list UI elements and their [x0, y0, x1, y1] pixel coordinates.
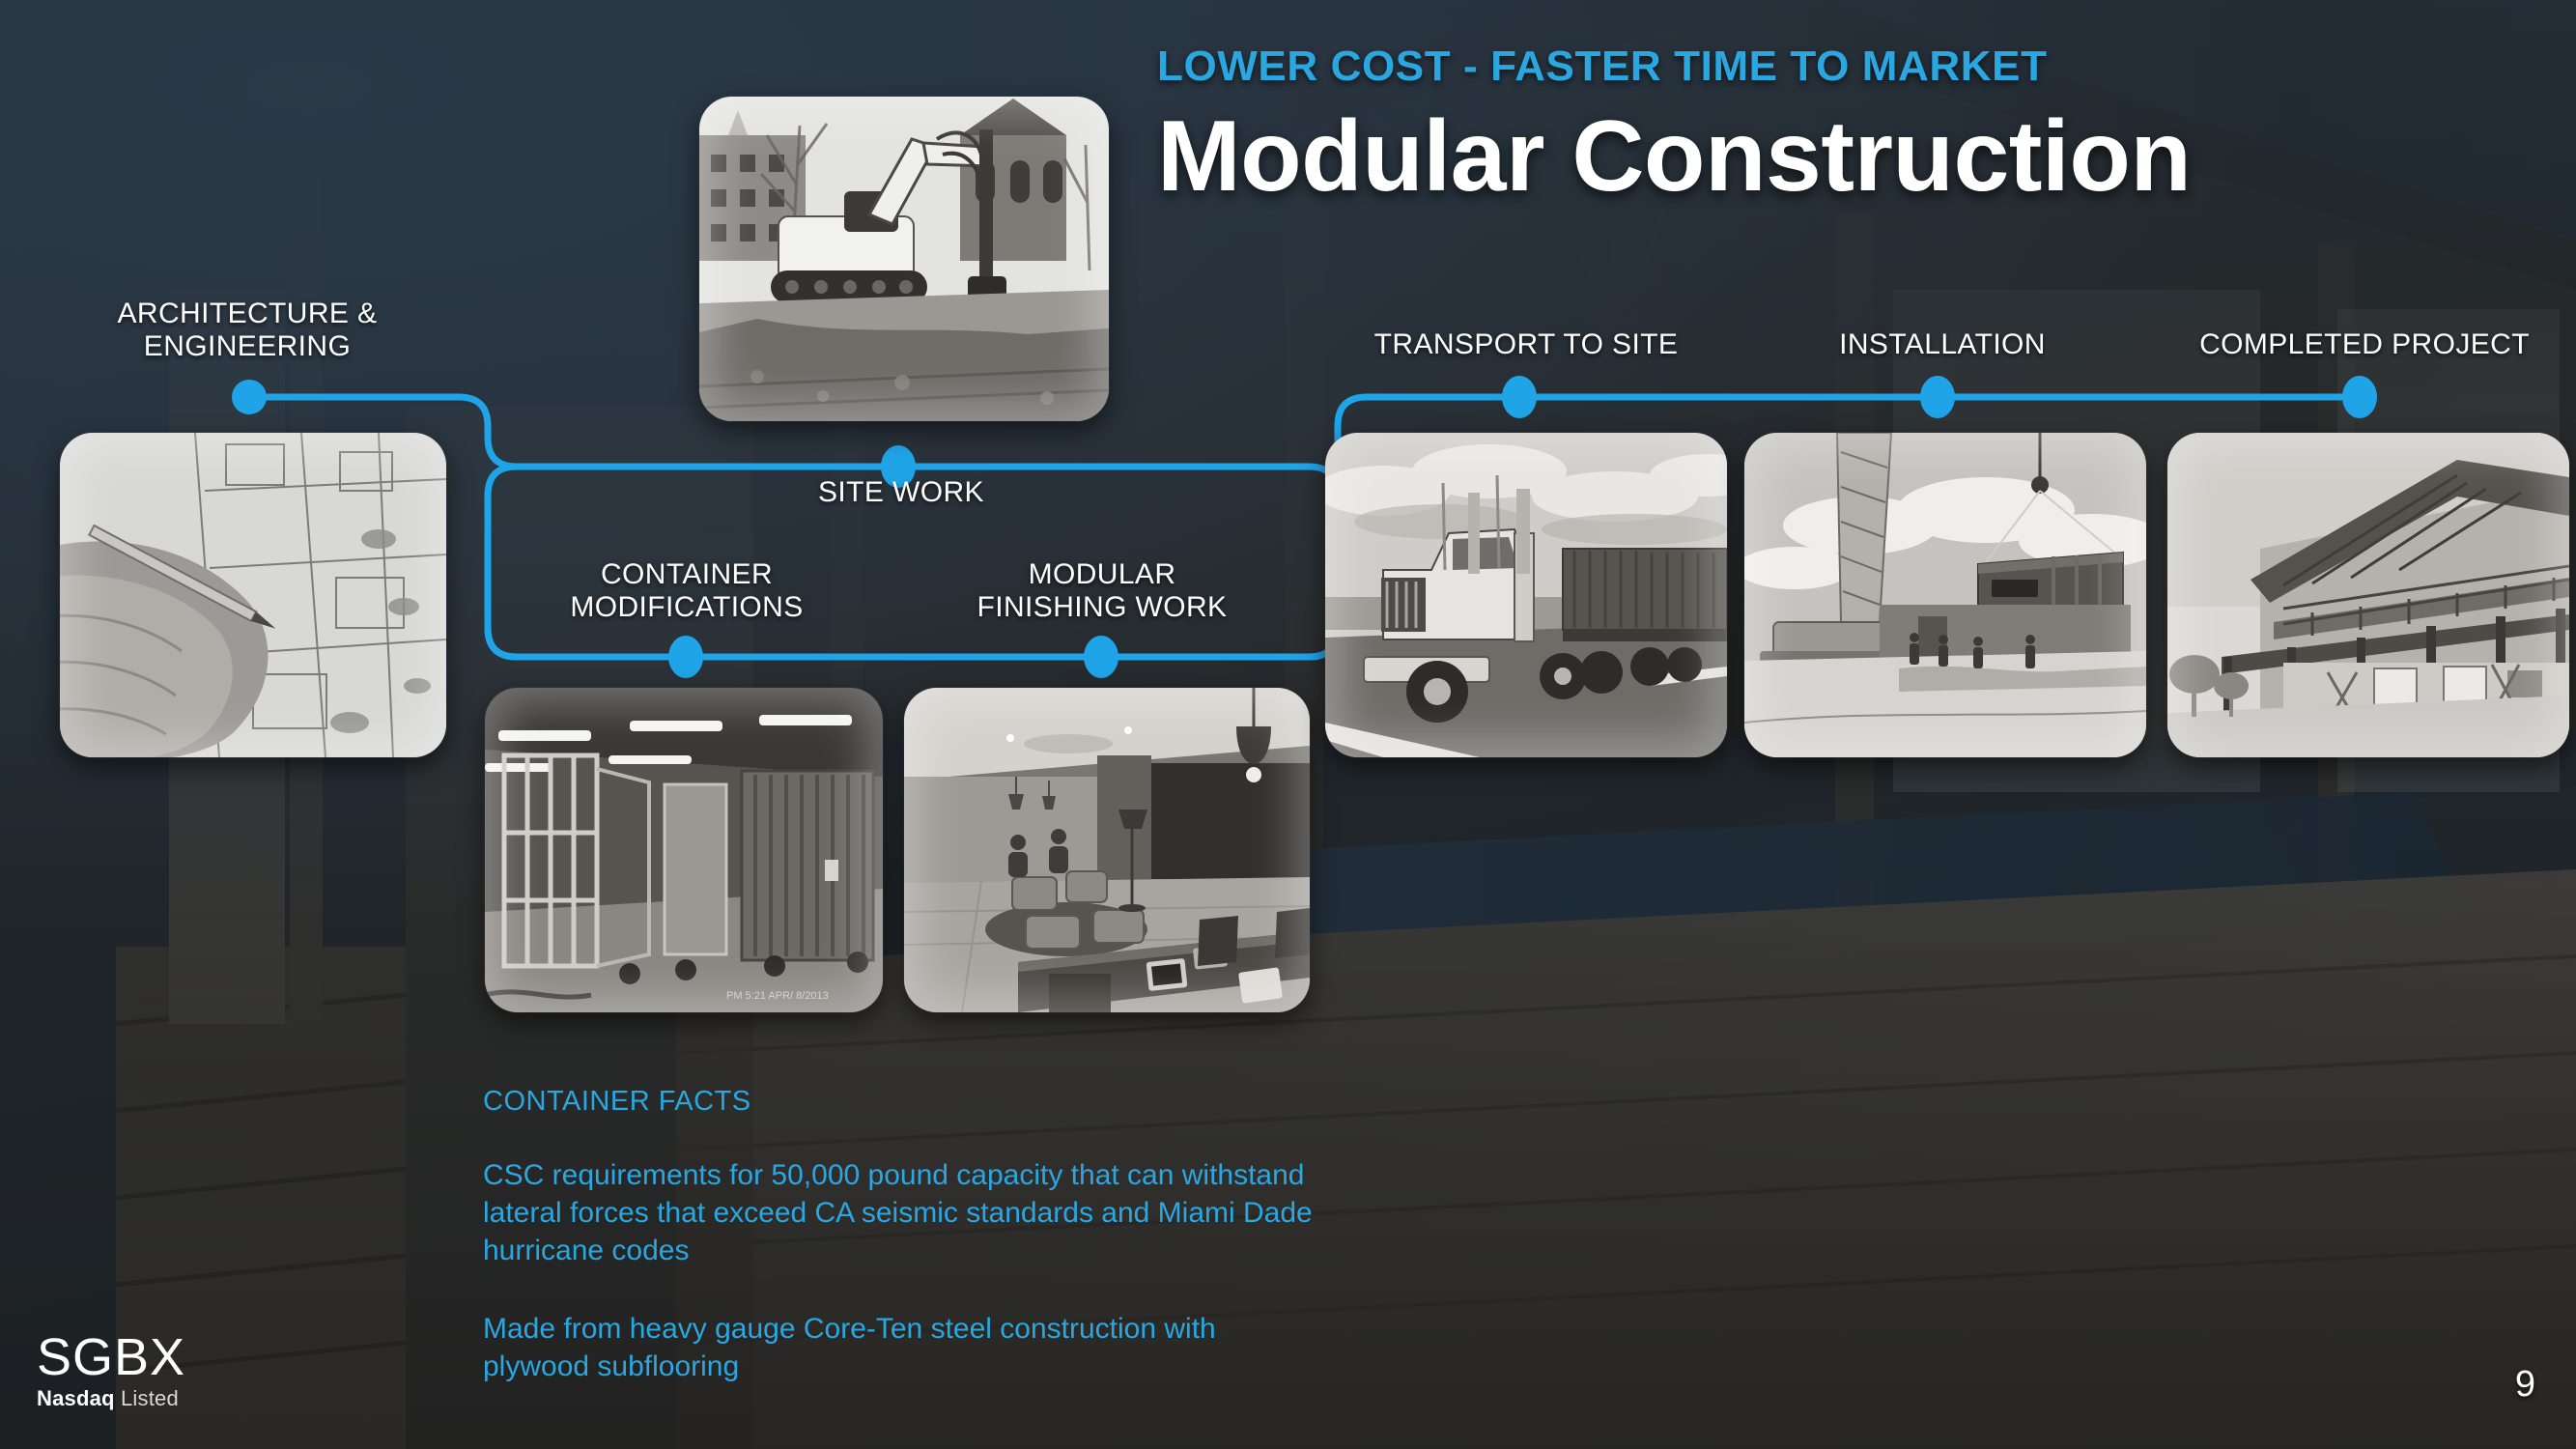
photo-transport-to-site[interactable] — [1325, 433, 1727, 757]
step-label-completed-project: COMPLETED PROJECT — [2171, 328, 2558, 361]
photo-modular-finishing-work[interactable] — [904, 688, 1310, 1012]
container-facts-heading: CONTAINER FACTS — [483, 1086, 1314, 1118]
photo-architecture-engineering[interactable] — [60, 433, 446, 757]
company-logo: SGBX Nasdaq Listed — [37, 1331, 185, 1411]
logo-ticker: SGBX — [37, 1331, 185, 1383]
container-facts-block: CONTAINER FACTS CSC requirements for 50,… — [483, 1086, 1314, 1426]
step-label-architecture-engineering: ARCHITECTURE & ENGINEERING — [64, 298, 431, 362]
logo-listing: Listed — [115, 1386, 179, 1410]
logo-exchange-listing: Nasdaq Listed — [37, 1386, 185, 1411]
flow-node-installation — [1920, 376, 1955, 418]
flow-node-architecture-engineering — [232, 380, 267, 414]
flow-node-completed-project — [2342, 376, 2377, 418]
page-title: Modular Construction — [1157, 104, 2374, 210]
container-fact-2: Made from heavy gauge Core-Ten steel con… — [483, 1310, 1314, 1385]
photo-installation[interactable] — [1744, 433, 2146, 757]
container-fact-1: CSC requirements for 50,000 pound capaci… — [483, 1156, 1314, 1269]
slide-eyebrow: LOWER COST - FASTER TIME TO MARKET — [1157, 43, 2316, 91]
step-label-modular-finishing-work: MODULAR FINISHING WORK — [943, 558, 1261, 623]
logo-exchange: Nasdaq — [37, 1386, 115, 1410]
flow-node-container-modifications — [668, 636, 703, 678]
step-label-site-work: SITE WORK — [742, 476, 1061, 509]
photo-completed-project[interactable] — [2167, 433, 2569, 757]
svg-text:PM 5:21 APR/ 8/2013: PM 5:21 APR/ 8/2013 — [726, 990, 829, 1002]
photo-site-work[interactable] — [699, 97, 1109, 421]
slide: LOWER COST - FASTER TIME TO MARKET Modul… — [0, 0, 2576, 1449]
photo-container-modifications[interactable]: PM 5:21 APR/ 8/2013 — [485, 688, 883, 1012]
step-label-container-modifications: CONTAINER MODIFICATIONS — [527, 558, 846, 623]
step-label-installation: INSTALLATION — [1783, 328, 2102, 361]
flow-node-transport-to-site — [1502, 376, 1537, 418]
step-label-transport-to-site: TRANSPORT TO SITE — [1352, 328, 1700, 361]
page-number: 9 — [2515, 1364, 2535, 1406]
flow-node-modular-finishing-work — [1084, 636, 1118, 678]
